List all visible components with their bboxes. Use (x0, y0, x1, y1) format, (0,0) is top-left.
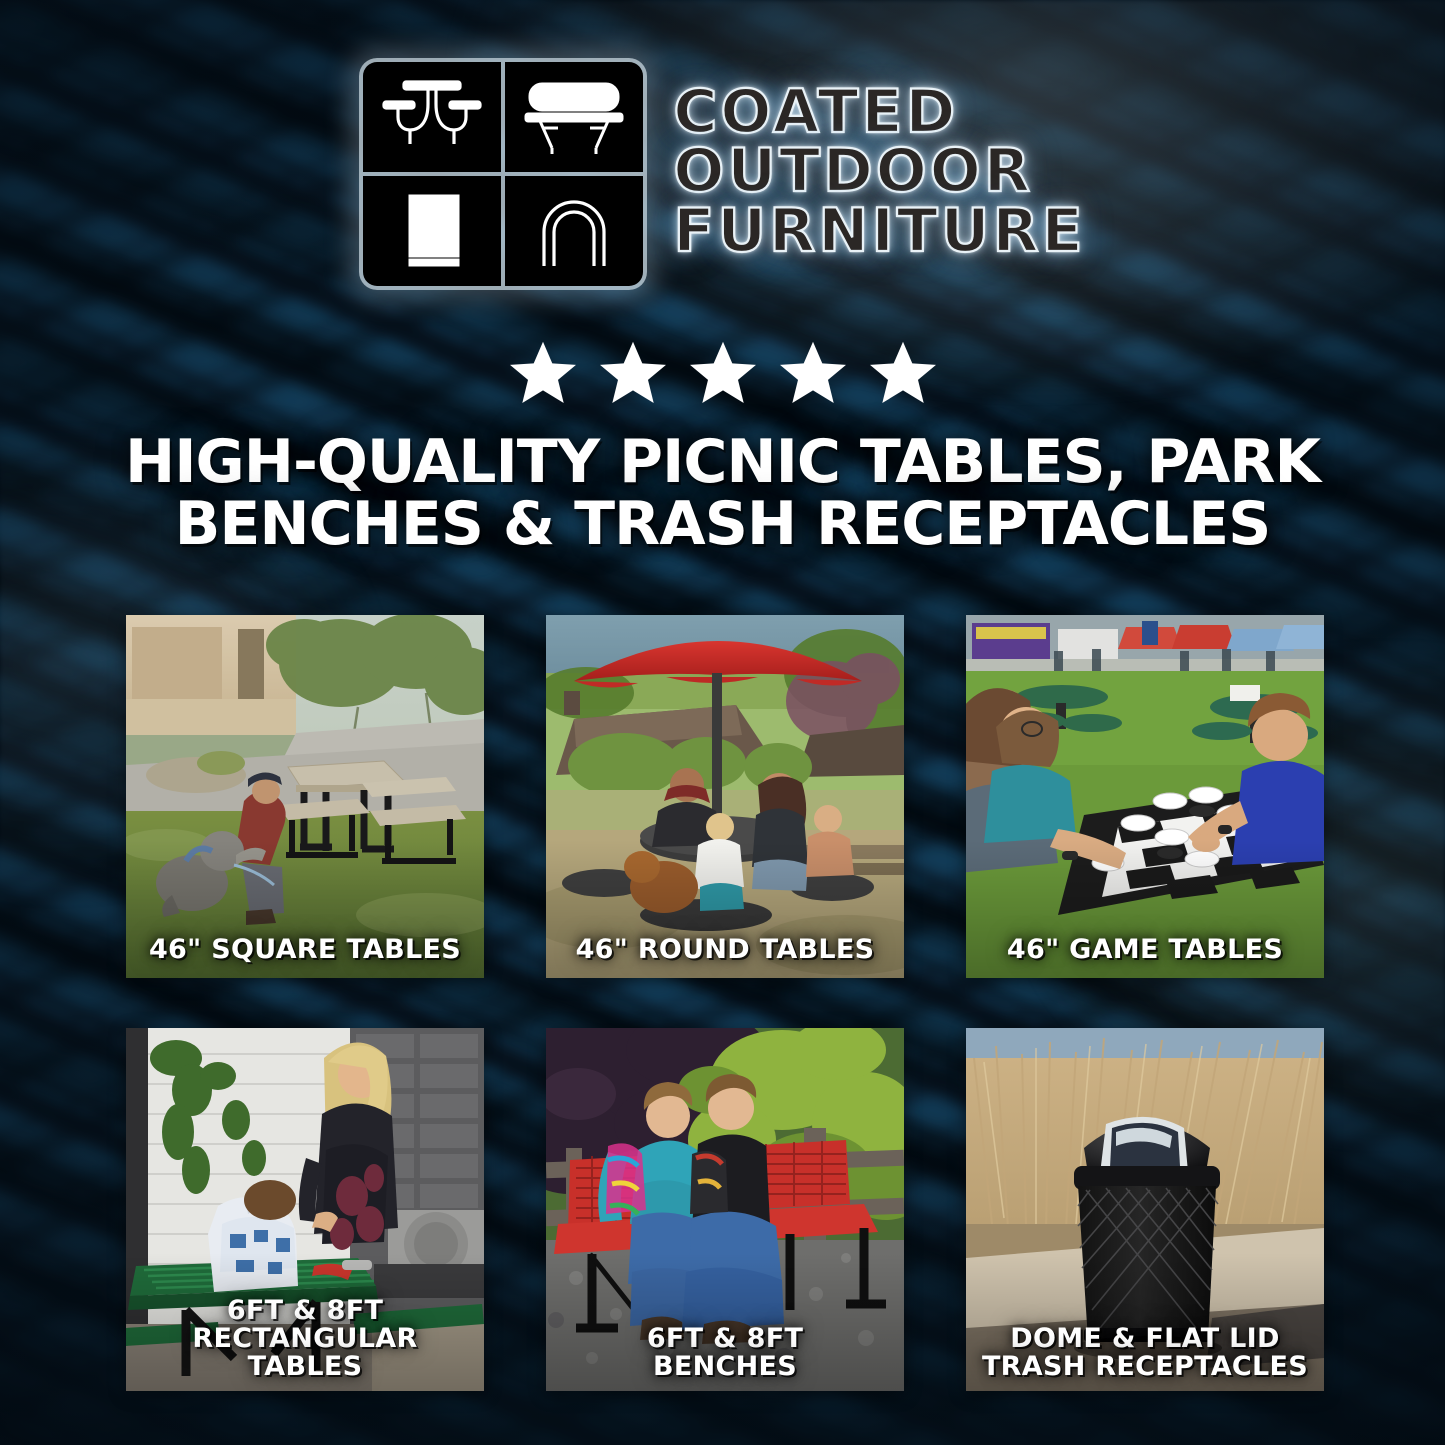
star-icon (507, 337, 579, 409)
brand-name-line-1: COATED (673, 84, 1085, 142)
star-icon (867, 337, 939, 409)
product-caption: 46" ROUND TABLES (552, 936, 898, 964)
brand-logo: COATED OUTDOOR FURNITURE (0, 58, 1445, 290)
caption-line-1: 6FT & 8FT (132, 1297, 478, 1325)
star-rating (0, 337, 1445, 409)
caption-line-1: 6FT & 8FT (552, 1325, 898, 1353)
page-title: HIGH-QUALITY PICNIC TABLES, PARK BENCHES… (60, 432, 1385, 556)
product-tile-game-tables[interactable]: 46" GAME TABLES (966, 615, 1324, 978)
product-caption: 6FT & 8FT RECTANGULAR TABLES (132, 1297, 478, 1381)
caption-line-1: 46" ROUND TABLES (552, 936, 898, 964)
star-icon (687, 337, 759, 409)
product-caption: 46" SQUARE TABLES (132, 936, 478, 964)
picnic-table-icon (363, 62, 501, 172)
logo-icon-grid (359, 58, 647, 290)
caption-line-1: 46" GAME TABLES (972, 936, 1318, 964)
bench-side-icon (505, 62, 643, 172)
bike-rack-arch-icon (505, 176, 643, 286)
product-grid: 46" SQUARE TABLES (126, 615, 1331, 1391)
star-icon (777, 337, 849, 409)
product-tile-rectangular-tables[interactable]: 6FT & 8FT RECTANGULAR TABLES (126, 1028, 484, 1391)
product-tile-trash-receptacles[interactable]: DOME & FLAT LID TRASH RECEPTACLES (966, 1028, 1324, 1391)
product-tile-square-tables[interactable]: 46" SQUARE TABLES (126, 615, 484, 978)
brand-name-line-2: OUTDOOR (673, 143, 1085, 201)
caption-line-2: RECTANGULAR TABLES (132, 1325, 478, 1381)
promo-graphic: COATED OUTDOOR FURNITURE HIGH-QUALITY PI… (0, 0, 1445, 1445)
product-tile-round-tables[interactable]: 46" ROUND TABLES (546, 615, 904, 978)
caption-line-2: BENCHES (552, 1353, 898, 1381)
brand-wordmark: COATED OUTDOOR FURNITURE (673, 84, 1085, 265)
brand-name-line-3: FURNITURE (673, 203, 1085, 261)
product-caption: DOME & FLAT LID TRASH RECEPTACLES (972, 1325, 1318, 1381)
caption-line-1: DOME & FLAT LID (972, 1325, 1318, 1353)
caption-line-2: TRASH RECEPTACLES (972, 1353, 1318, 1381)
trash-receptacle-icon (363, 176, 501, 286)
product-caption: 46" GAME TABLES (972, 936, 1318, 964)
product-caption: 6FT & 8FT BENCHES (552, 1325, 898, 1381)
headline-line-1: HIGH-QUALITY PICNIC TABLES, PARK (60, 432, 1385, 494)
star-icon (597, 337, 669, 409)
headline-line-2: BENCHES & TRASH RECEPTACLES (60, 494, 1385, 556)
caption-line-1: 46" SQUARE TABLES (132, 936, 478, 964)
product-tile-benches[interactable]: 6FT & 8FT BENCHES (546, 1028, 904, 1391)
